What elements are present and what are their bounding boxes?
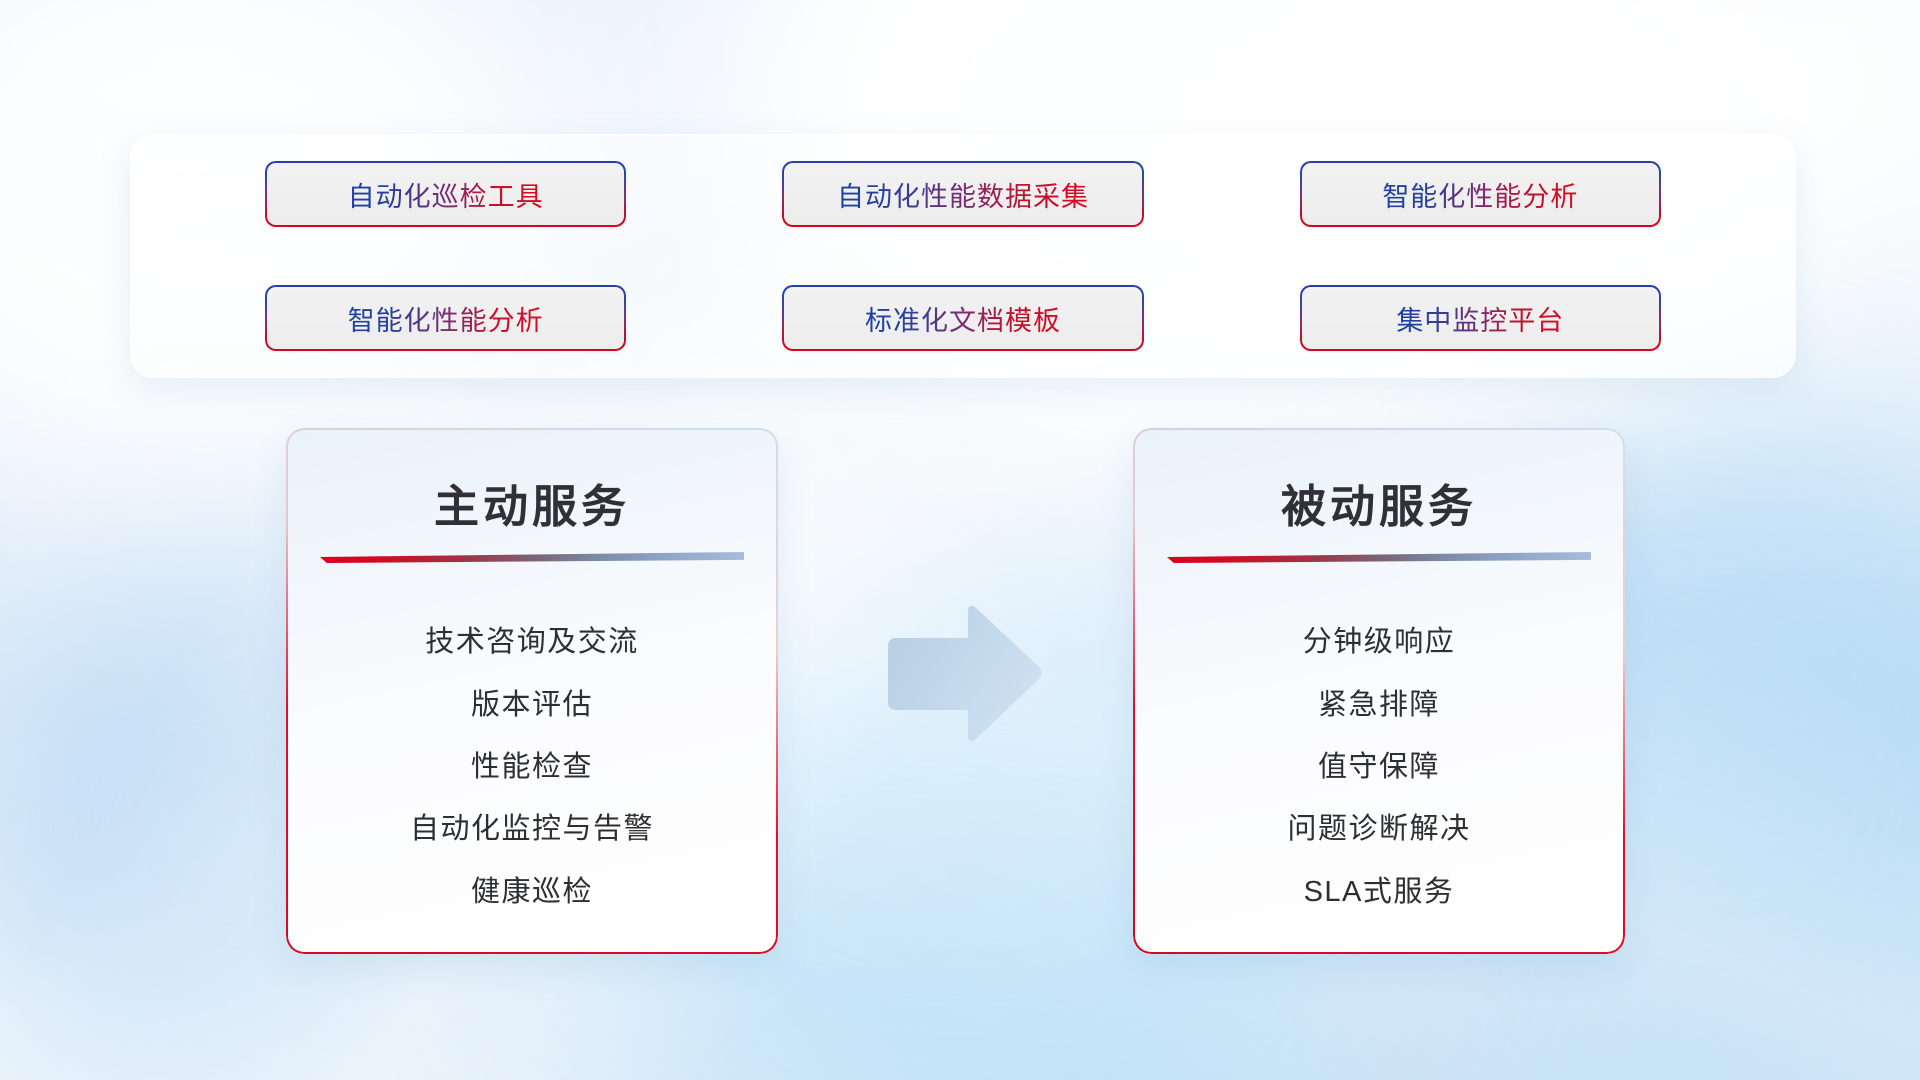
right-arrow-icon [880, 600, 1045, 748]
capability-chip-intelligent-performance-analysis-bottom[interactable]: 智能化性能分析 [267, 287, 625, 349]
passive-service-card[interactable]: 被动服务 分钟级响应 紧急排障 值守保障 问题诊断解决 SLA式服务 [1133, 428, 1625, 954]
list-item: 自动化监控与告警 [410, 805, 654, 847]
card-divider [320, 552, 744, 563]
list-item: 技术咨询及交流 [425, 618, 639, 660]
list-item: 分钟级响应 [1303, 618, 1456, 660]
list-item: 值守保障 [1318, 743, 1440, 785]
active-service-list: 技术咨询及交流 版本评估 性能检查 自动化监控与告警 健康巡检 [286, 598, 778, 930]
list-item: 紧急排障 [1318, 681, 1440, 723]
chip-label: 自动化性能数据采集 [837, 175, 1089, 214]
list-item: SLA式服务 [1304, 868, 1455, 910]
chip-label: 自动化巡检工具 [348, 175, 544, 214]
capability-chip-standardized-document-template[interactable]: 标准化文档模板 [784, 287, 1142, 349]
capability-chip-automated-performance-data-collection[interactable]: 自动化性能数据采集 [784, 163, 1142, 225]
chip-label: 智能化性能分析 [1382, 175, 1578, 214]
chip-label: 标准化文档模板 [865, 299, 1061, 338]
list-item: 问题诊断解决 [1287, 805, 1470, 847]
passive-service-list: 分钟级响应 紧急排障 值守保障 问题诊断解决 SLA式服务 [1133, 598, 1625, 930]
list-item: 版本评估 [471, 681, 593, 723]
capability-chip-grid: 自动化巡检工具 自动化性能数据采集 智能化性能分析 智能化性能分析 标准化文档模… [131, 135, 1795, 377]
list-item: 性能检查 [471, 743, 593, 785]
capability-chip-intelligent-performance-analysis-top[interactable]: 智能化性能分析 [1301, 163, 1659, 225]
capability-chip-centralized-monitoring-platform[interactable]: 集中监控平台 [1301, 287, 1659, 349]
active-service-card[interactable]: 主动服务 技术咨询及交流 版本评估 性能检查 自动化监控与告警 健康巡检 [286, 428, 778, 954]
capability-panel: 自动化巡检工具 自动化性能数据采集 智能化性能分析 智能化性能分析 标准化文档模… [130, 134, 1796, 378]
chip-label: 集中监控平台 [1396, 299, 1564, 338]
card-title: 被动服务 [1133, 470, 1625, 535]
card-title: 主动服务 [286, 470, 778, 535]
card-divider [1167, 552, 1591, 563]
capability-chip-automated-inspection-tool[interactable]: 自动化巡检工具 [267, 163, 625, 225]
chip-label: 智能化性能分析 [348, 299, 544, 338]
list-item: 健康巡检 [471, 868, 593, 910]
